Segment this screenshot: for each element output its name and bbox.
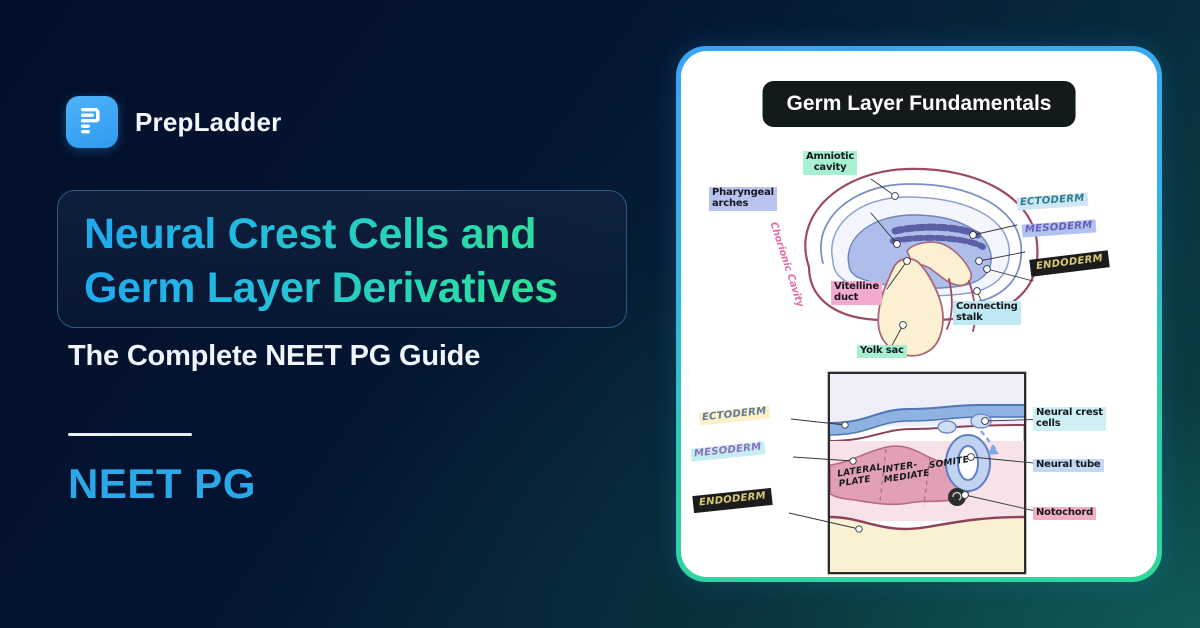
card-badge: Germ Layer Fundamentals: [763, 81, 1076, 127]
embryo-germ-layer-diagram: Amniotic cavity Pharyngeal arches ECTODE…: [681, 139, 1157, 371]
prepladder-p-logo-icon: [66, 96, 118, 148]
label-vitelline-duct: Vitelline duct: [831, 281, 882, 305]
illustration-card: Germ Layer Fundamentals: [676, 46, 1162, 582]
hero-left-panel: PrepLadder Neural Crest Cells and Germ L…: [0, 0, 660, 628]
label-yolk-sac: Yolk sac: [857, 345, 907, 358]
brand-name: PrepLadder: [135, 107, 282, 138]
exam-tag: NEET PG: [68, 460, 256, 508]
label-neural-crest-cells: Neural crest cells: [1033, 407, 1106, 431]
label-neural-tube: Neural tube: [1033, 459, 1104, 472]
divider: [68, 433, 192, 436]
brand-logo[interactable]: PrepLadder: [66, 96, 282, 148]
label-amniotic-cavity: Amniotic cavity: [803, 151, 857, 175]
neurulation-cross-section-diagram: ECTODERM MESODERM ENDODERM Neural crest …: [681, 367, 1157, 577]
hero-subtitle: The Complete NEET PG Guide: [68, 340, 480, 373]
hero-title-box: Neural Crest Cells and Germ Layer Deriva…: [57, 190, 627, 328]
label-notochord: Notochord: [1033, 507, 1096, 520]
label-pharyngeal-arches: Pharyngeal arches: [709, 187, 777, 211]
label-connecting-stalk: Connecting stalk: [953, 301, 1021, 325]
page-title: Neural Crest Cells and Germ Layer Deriva…: [84, 207, 604, 315]
